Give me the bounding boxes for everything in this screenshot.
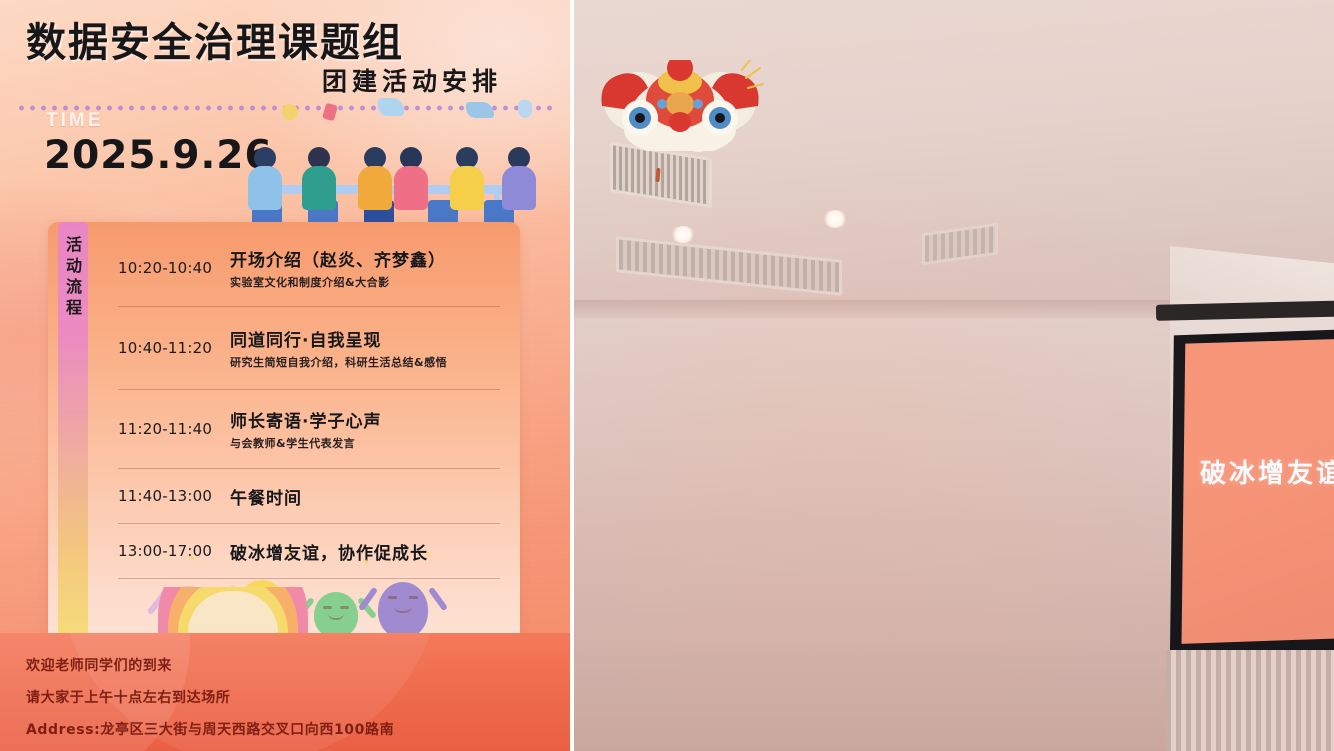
- projection-screen: 破冰增友谊，协作促成长 数据安: [1166, 322, 1334, 656]
- schedule-body: 同道同行·自我呈现 研究生简短自我介绍，科研生活总结&感悟: [230, 326, 500, 370]
- poster-subtitle: 团建活动安排: [322, 62, 502, 98]
- footer-line-1: 欢迎老师同学们的到来: [26, 655, 172, 675]
- poster-title: 数据安全治理课题组: [26, 10, 404, 68]
- schedule-time: 11:40-13:00: [118, 487, 230, 505]
- slide-title: 破冰增友谊，协作促成长: [1200, 453, 1334, 490]
- schedule-row: 10:20-10:40 开场介绍（赵炎、齐梦鑫） 实验室文化和制度介绍&大合影: [118, 230, 500, 307]
- illus-person: [358, 147, 392, 210]
- schedule-rows: 10:20-10:40 开场介绍（赵炎、齐梦鑫） 实验室文化和制度介绍&大合影 …: [118, 230, 500, 579]
- sparkle-icon: ✦: [284, 548, 292, 559]
- sparkle-icon: ✦: [362, 558, 370, 569]
- illus-bubble-coin: [282, 104, 298, 120]
- panel-divider: [570, 0, 574, 751]
- schedule-body: 师长寄语·学子心声 与会教师&学生代表发言: [230, 407, 500, 451]
- illus-person: [248, 147, 282, 210]
- schedule-time: 10:40-11:20: [118, 339, 230, 357]
- screenshot-root: 数据安全治理课题组 团建活动安排 TIME 2025.9.26: [0, 0, 1334, 751]
- event-photo: 破冰增友谊，协作促成长 数据安: [570, 0, 1334, 751]
- schedule-title: 同道同行·自我呈现: [230, 326, 500, 351]
- downlight-icon: [822, 210, 848, 228]
- illus-person: [450, 147, 484, 210]
- illus-bubble-chat: [466, 102, 494, 118]
- footer-line-2: 请大家于上午十点左右到达场所: [26, 687, 230, 707]
- rainbow-arc: [158, 587, 308, 633]
- schedule-time: 10:20-10:40: [118, 259, 230, 277]
- schedule-title: 师长寄语·学子心声: [230, 407, 500, 432]
- radiator-grille: [1166, 650, 1334, 751]
- downlight-icon: [670, 226, 696, 243]
- back-wall: [570, 318, 1190, 751]
- lion-dance-icon: [596, 60, 764, 151]
- schedule-desc: 实验室文化和制度介绍&大合影: [230, 274, 500, 290]
- footer-line-3: Address:龙亭区三大街与周天西路交叉口向西100路南: [26, 719, 394, 739]
- illus-person: [502, 147, 536, 210]
- schedule-title: 开场介绍（赵炎、齐梦鑫）: [230, 246, 500, 271]
- schedule-body: 午餐时间: [230, 484, 500, 509]
- schedule-ribbon-label: 活动流程: [62, 234, 86, 318]
- schedule-time: 11:20-11:40: [118, 420, 230, 438]
- blob-mascot: [314, 592, 358, 638]
- time-label: TIME: [46, 110, 103, 132]
- illus-person: [302, 147, 336, 210]
- lion-dance-graphic: [596, 60, 764, 151]
- schedule-body: 开场介绍（赵炎、齐梦鑫） 实验室文化和制度介绍&大合影: [230, 246, 500, 290]
- schedule-row: 11:40-13:00 午餐时间: [118, 469, 500, 524]
- illus-bubble-book: [322, 103, 338, 122]
- illus-person: [394, 147, 428, 210]
- schedule-row: 10:40-11:20 同道同行·自我呈现 研究生简短自我介绍，科研生活总结&感…: [118, 307, 500, 390]
- schedule-title: 午餐时间: [230, 484, 500, 509]
- schedule-row: 11:20-11:40 师长寄语·学子心声 与会教师&学生代表发言: [118, 390, 500, 469]
- blob-mascot: [378, 582, 428, 638]
- event-poster: 数据安全治理课题组 团建活动安排 TIME 2025.9.26: [0, 0, 570, 751]
- illus-bubble-chat: [378, 98, 404, 116]
- sparkle-icon: ✦: [188, 554, 196, 565]
- screen-surface: 破冰增友谊，协作促成长 数据安: [1174, 331, 1334, 647]
- illus-bubble-shield: [518, 100, 532, 118]
- sparkle-icon: ✦: [424, 550, 432, 561]
- schedule-desc: 与会教师&学生代表发言: [230, 435, 500, 451]
- schedule-desc: 研究生简短自我介绍，科研生活总结&感悟: [230, 354, 500, 370]
- meeting-illustration: [238, 98, 548, 228]
